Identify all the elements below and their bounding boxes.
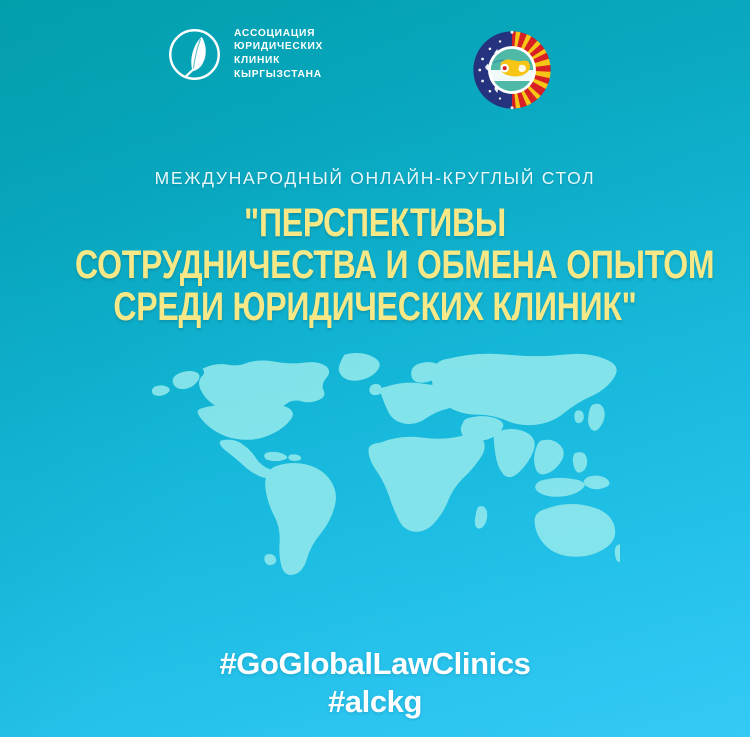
title-line-3: СРЕДИ ЮРИДИЧЕСКИХ КЛИНИК" bbox=[75, 287, 675, 327]
association-logo-line-3: КЛИНИК bbox=[234, 55, 323, 68]
association-logo-text: АССОЦИАЦИЯ ЮРИДИЧЕСКИХ КЛИНИК КЫРГЫЗСТАН… bbox=[234, 28, 323, 81]
association-logo: АССОЦИАЦИЯ ЮРИДИЧЕСКИХ КЛИНИК КЫРГЫЗСТАН… bbox=[166, 26, 323, 83]
header-logo-row: АССОЦИАЦИЯ ЮРИДИЧЕСКИХ КЛИНИК КЫРГЫЗСТАН… bbox=[0, 0, 750, 125]
sunburst-globe-emblem-icon bbox=[466, 24, 558, 116]
title-line-1: "ПЕРСПЕКТИВЫ bbox=[75, 203, 675, 243]
poster-canvas: АССОЦИАЦИЯ ЮРИДИЧЕСКИХ КЛИНИК КЫРГЫЗСТАН… bbox=[0, 0, 750, 737]
hashtag-block: #GoGlobalLawClinics #alckg bbox=[0, 645, 750, 721]
association-logo-line-2: ЮРИДИЧЕСКИХ bbox=[234, 41, 323, 54]
title-line-2: СОТРУДНИЧЕСТВА И ОБМЕНА ОПЫТОМ bbox=[75, 245, 675, 285]
event-type-label: МЕЖДУНАРОДНЫЙ ОНЛАЙН-КРУГЛЫЙ СТОЛ bbox=[0, 168, 750, 189]
association-logo-line-1: АССОЦИАЦИЯ bbox=[234, 28, 323, 41]
hashtag-secondary: #alckg bbox=[0, 683, 750, 721]
dotted-world-map bbox=[148, 348, 620, 578]
association-logo-line-4: КЫРГЫЗСТАНА bbox=[234, 69, 323, 82]
page-title: "ПЕРСПЕКТИВЫ СОТРУДНИЧЕСТВА И ОБМЕНА ОПЫ… bbox=[0, 203, 750, 327]
hashtag-primary: #GoGlobalLawClinics bbox=[0, 645, 750, 683]
feather-quill-circle-icon bbox=[166, 26, 223, 83]
